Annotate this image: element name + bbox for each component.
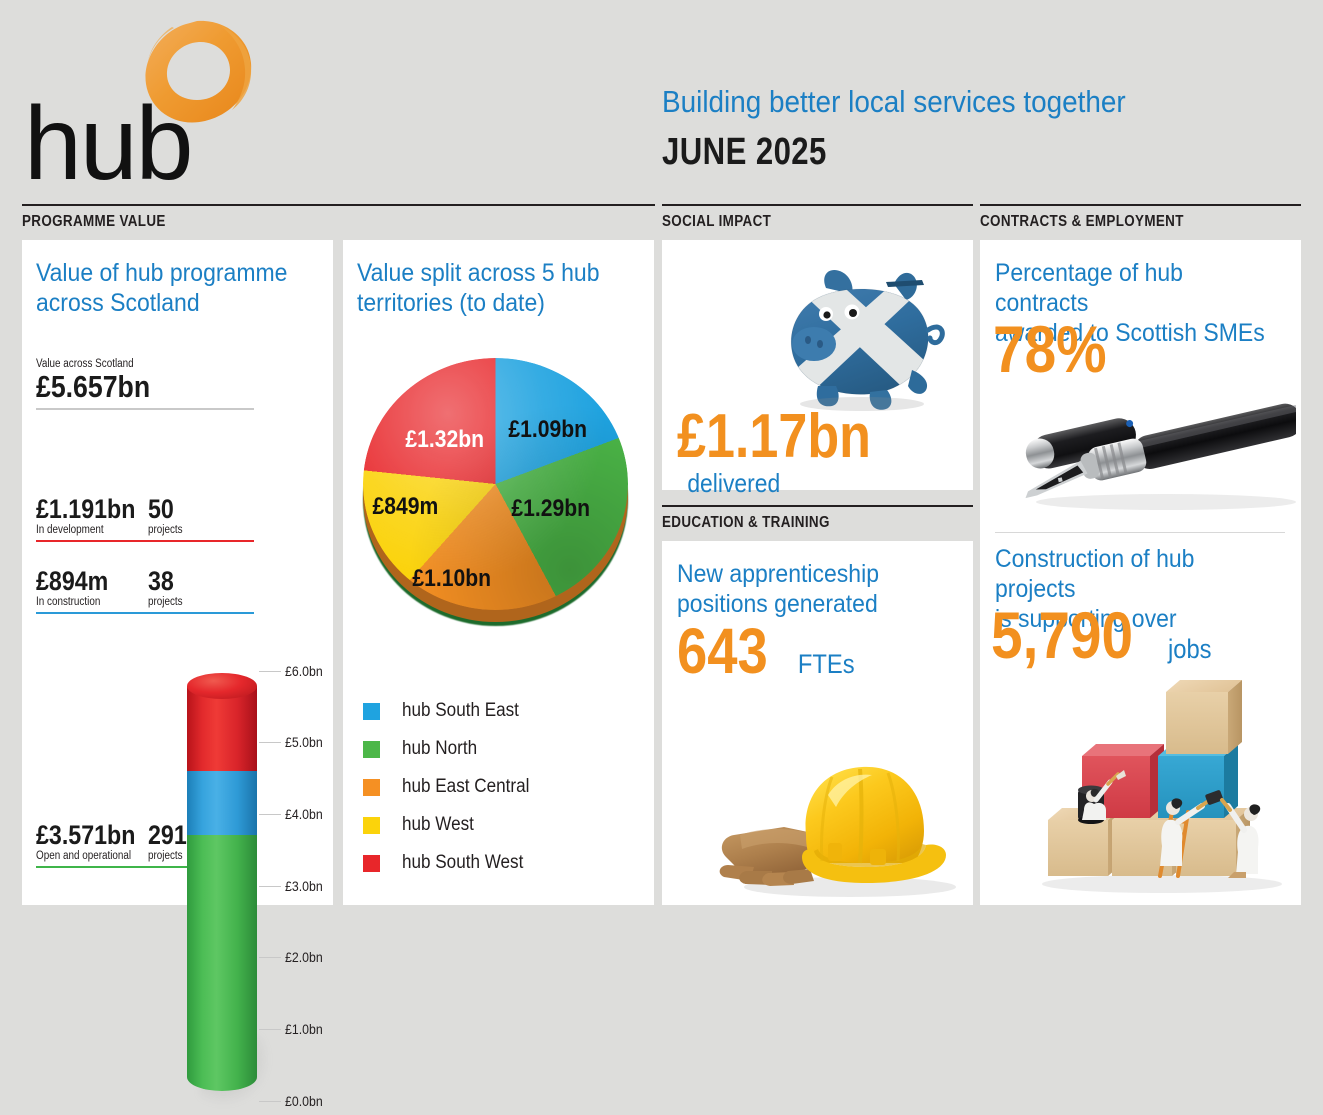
legend-swatch bbox=[363, 779, 380, 796]
axis-tick-label: £2.0bn bbox=[285, 949, 323, 965]
block-top bbox=[1166, 680, 1242, 754]
legend-swatch bbox=[363, 703, 380, 720]
stat-value: £894m bbox=[36, 566, 132, 596]
pie-label-west: £849m bbox=[372, 493, 438, 521]
heading-rule bbox=[662, 204, 973, 206]
report-month: JUNE 2025 bbox=[662, 130, 827, 174]
logo-wordmark: hub bbox=[24, 92, 192, 196]
hard-hat-and-gloves-icon bbox=[710, 739, 958, 899]
social-impact-suffix: delivered bbox=[687, 468, 780, 499]
axis-tick bbox=[259, 742, 281, 743]
legend-item-west: hub West bbox=[363, 806, 544, 844]
section-heading-programme-value: PROGRAMME VALUE bbox=[22, 204, 655, 231]
axis-tick bbox=[259, 671, 281, 672]
heading-rule bbox=[980, 204, 1301, 206]
cylinder-body bbox=[187, 661, 257, 1091]
heading-rule bbox=[22, 204, 655, 206]
pie-gloss bbox=[363, 358, 628, 610]
stat-value: £3.571bn bbox=[36, 820, 132, 850]
legend-swatch bbox=[363, 817, 380, 834]
toy-figures-painting-blocks-icon bbox=[1032, 670, 1290, 900]
card-title-education: New apprenticeship positions generated bbox=[677, 559, 946, 619]
stat-in-development: £1.191bn In development 50 projects bbox=[36, 494, 254, 542]
social-impact-value: £1.17bn bbox=[677, 406, 871, 468]
axis-tick bbox=[259, 1101, 281, 1102]
legend-label: hub West bbox=[402, 814, 474, 836]
pie-face bbox=[363, 358, 628, 610]
axis-tick-label: £0.0bn bbox=[285, 1093, 323, 1109]
legend-label: hub South West bbox=[402, 852, 523, 874]
section-heading-education-training: EDUCATION & TRAINING bbox=[662, 505, 973, 532]
heading-rule bbox=[662, 505, 973, 507]
axis-tick bbox=[259, 814, 281, 815]
education-figure: 643 FTEs bbox=[677, 619, 859, 683]
pie-label-north: £1.29bn bbox=[511, 495, 590, 523]
smes-figure: 78% bbox=[993, 316, 1125, 382]
legend-item-south-west: hub South West bbox=[363, 844, 544, 882]
axis-tick-label: £6.0bn bbox=[285, 663, 323, 679]
card-divider bbox=[995, 532, 1285, 533]
stat-underline bbox=[36, 540, 254, 542]
card-education-training: New apprenticeship positions generated 6… bbox=[662, 541, 973, 905]
card-contracts-employment: Percentage of hub contracts awarded to S… bbox=[980, 240, 1301, 905]
axis-tick-label: £1.0bn bbox=[285, 1021, 323, 1037]
legend-swatch bbox=[363, 855, 380, 872]
stat-underline bbox=[36, 408, 254, 410]
social-impact-figure: £1.17bn delivered bbox=[677, 406, 973, 499]
scottish-flag-piggy-bank-icon bbox=[774, 252, 954, 417]
stat-count: 50 bbox=[148, 494, 234, 524]
axis-tick-label: £4.0bn bbox=[285, 806, 323, 822]
smes-value: 78% bbox=[993, 316, 1107, 382]
stat-value: £5.657bn bbox=[36, 370, 223, 404]
education-suffix: FTEs bbox=[798, 649, 855, 680]
card-title-programme-value: Value of hub programme across Scotland bbox=[36, 258, 303, 318]
heading-label: PROGRAMME VALUE bbox=[22, 213, 554, 231]
stat-caption: In development bbox=[36, 524, 132, 536]
tagline: Building better local services together bbox=[662, 84, 1126, 120]
jobs-figure: 5,790 jobs bbox=[991, 602, 1214, 668]
cylinder-segment-in-construction bbox=[187, 771, 257, 835]
section-heading-contracts-employment: CONTRACTS & EMPLOYMENT bbox=[980, 204, 1301, 231]
cylinder-segment-open-operational bbox=[187, 835, 257, 1091]
stat-caption: In construction bbox=[36, 596, 132, 608]
stat-count-caption: projects bbox=[148, 524, 234, 536]
pie-legend: hub South East hub North hub East Centra… bbox=[363, 692, 544, 882]
card-title-territories: Value split across 5 hub territories (to… bbox=[357, 258, 626, 318]
pie-chart: £1.09bn £1.29bn £1.10bn £849m £1.32bn bbox=[355, 350, 645, 635]
section-heading-social-impact: SOCIAL IMPACT bbox=[662, 204, 973, 231]
axis-tick-label: £5.0bn bbox=[285, 734, 323, 750]
fountain-pen-icon bbox=[986, 398, 1296, 513]
stat-count: 38 bbox=[148, 566, 234, 596]
jobs-suffix: jobs bbox=[1168, 634, 1212, 665]
legend-item-north: hub North bbox=[363, 730, 544, 768]
card-territories: Value split across 5 hub territories (to… bbox=[343, 240, 654, 905]
pie-label-south-west: £1.32bn bbox=[405, 426, 484, 454]
legend-label: hub East Central bbox=[402, 776, 529, 798]
stat-caption: Open and operational bbox=[36, 850, 132, 862]
card-programme-value: Value of hub programme across Scotland V… bbox=[22, 240, 333, 905]
legend-item-east-central: hub East Central bbox=[363, 768, 544, 806]
axis-tick-label: £3.0bn bbox=[285, 878, 323, 894]
axis-tick bbox=[259, 957, 281, 958]
hub-logo: hub bbox=[22, 14, 312, 184]
jobs-value: 5,790 bbox=[991, 602, 1133, 668]
legend-label: hub North bbox=[402, 738, 477, 760]
page-header: hub Building better local services toget… bbox=[0, 0, 1323, 196]
axis-tick bbox=[259, 886, 281, 887]
stat-value: £1.191bn bbox=[36, 494, 132, 524]
pie-label-east-central: £1.10bn bbox=[412, 565, 491, 593]
heading-label: CONTRACTS & EMPLOYMENT bbox=[980, 213, 1250, 231]
legend-label: hub South East bbox=[402, 700, 519, 722]
legend-item-south-east: hub South East bbox=[363, 692, 544, 730]
stacked-cylinder-chart: £6.0bn £5.0bn £4.0bn £3.0bn £2.0bn £1.0b… bbox=[155, 605, 330, 1115]
card-social-impact: £1.17bn delivered bbox=[662, 240, 973, 490]
axis-tick bbox=[259, 1029, 281, 1030]
legend-swatch bbox=[363, 741, 380, 758]
education-value: 643 bbox=[677, 619, 768, 683]
cylinder-top-cap bbox=[187, 673, 257, 699]
heading-label: SOCIAL IMPACT bbox=[662, 213, 923, 231]
heading-label: EDUCATION & TRAINING bbox=[662, 514, 923, 532]
stat-total-value: Value across Scotland £5.657bn bbox=[36, 358, 254, 410]
pie-label-south-east: £1.09bn bbox=[508, 416, 587, 444]
